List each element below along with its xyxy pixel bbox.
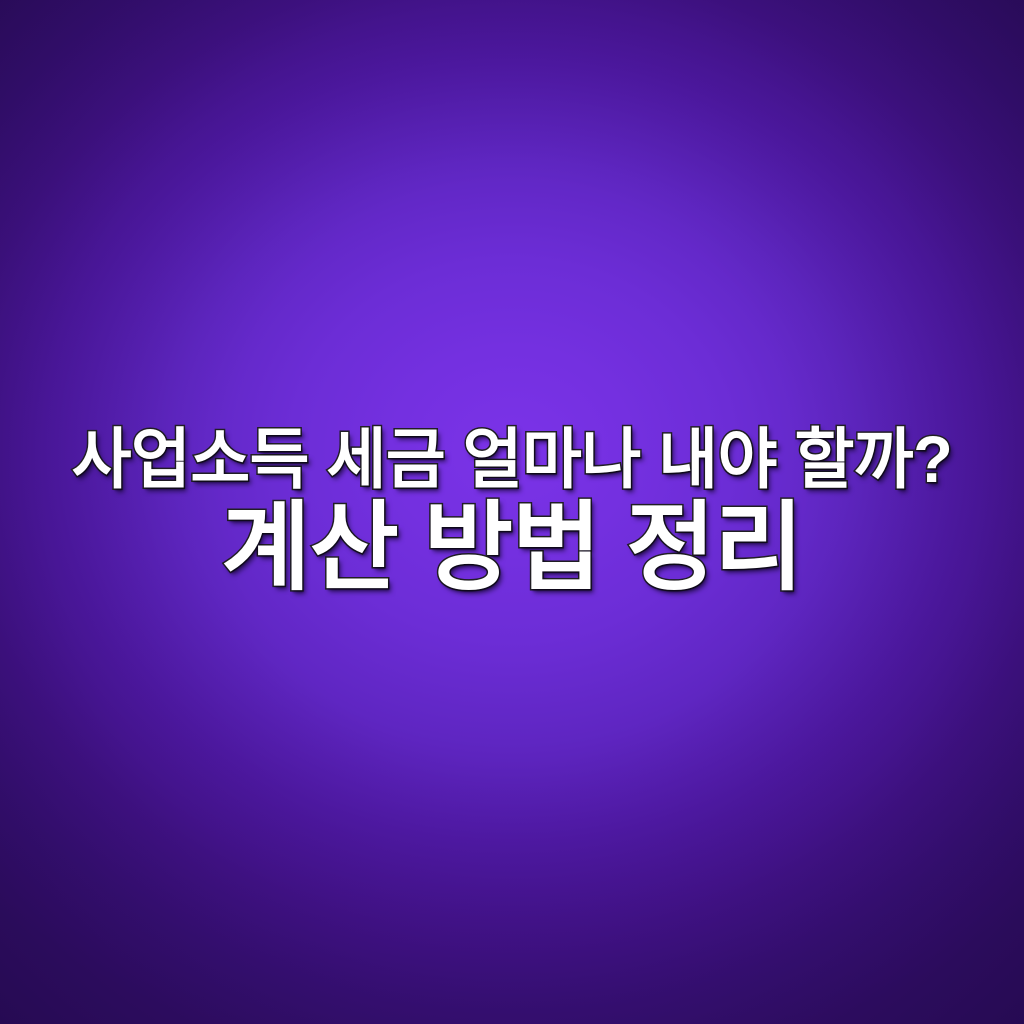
title-block: 사업소득 세금 얼마나 내야 할까? 계산 방법 정리 bbox=[0, 0, 1024, 1024]
title-line-secondary: 계산 방법 정리 bbox=[221, 499, 802, 598]
title-line-primary: 사업소득 세금 얼마나 내야 할까? bbox=[72, 426, 953, 493]
thumbnail-canvas: 사업소득 세금 얼마나 내야 할까? 계산 방법 정리 bbox=[0, 0, 1024, 1024]
